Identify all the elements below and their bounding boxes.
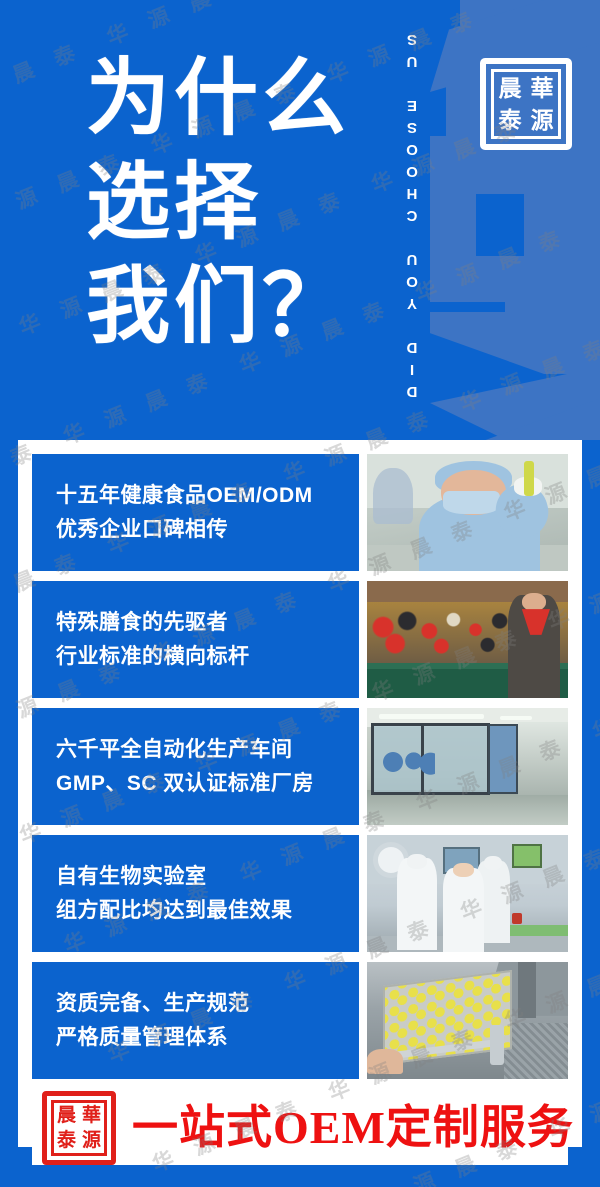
- feature-card-text: 六千平全自动化生产车间 GMP、SC 双认证标准厂房: [32, 708, 359, 825]
- feature-card-line2: 严格质量管理体系: [56, 1022, 359, 1053]
- poster-root: 为什么 选择 我们？ DID YOU CHOOSE US 晨 華 泰 源 十五年…: [0, 0, 600, 1187]
- feature-card: 资质完备、生产规范 严格质量管理体系: [32, 962, 568, 1079]
- company-seal-logo-red: 晨 華 泰 源: [42, 1091, 116, 1165]
- feature-card-line1: 资质完备、生产规范: [56, 988, 359, 1019]
- photo-art: [367, 962, 568, 1079]
- photo-art: [367, 581, 568, 698]
- why-letter-h-shape-3: [524, 194, 600, 256]
- feature-card: 六千平全自动化生产车间 GMP、SC 双认证标准厂房: [32, 708, 568, 825]
- feature-card: 十五年健康食品OEM/ODM 优秀企业口碑相传: [32, 454, 568, 571]
- feature-card-line2: GMP、SC 双认证标准厂房: [56, 768, 359, 799]
- conference-audience-photo: [367, 581, 568, 698]
- why-letter-y-shape-2: [430, 312, 600, 374]
- bottom-slogan-text: 一站式OEM定制服务: [132, 1105, 574, 1151]
- seal-char-2: 華: [526, 72, 558, 104]
- photo-art: [367, 708, 568, 825]
- cleanroom-corridor-photo: [367, 708, 568, 825]
- vertical-tagline: DID YOU CHOOSE US: [398, 18, 426, 408]
- blister-pack-tablets-photo: [367, 962, 568, 1079]
- seal-char-4: 源: [79, 1128, 104, 1153]
- feature-card-line1: 六千平全自动化生产车间: [56, 734, 359, 765]
- seal-white-grid: 晨 華 泰 源: [491, 69, 561, 139]
- lab-technician-photo: [367, 454, 568, 571]
- hero-section: 为什么 选择 我们？ DID YOU CHOOSE US 晨 華 泰 源: [0, 0, 600, 440]
- seal-char-3: 泰: [494, 104, 526, 136]
- feature-card-line1: 十五年健康食品OEM/ODM: [56, 480, 359, 511]
- bottom-slogan-bar: 晨 華 泰 源 一站式OEM定制服务: [32, 1091, 568, 1165]
- photo-art: [367, 835, 568, 952]
- why-letter-h-shape-2: [430, 194, 476, 256]
- company-seal-logo-white: 晨 華 泰 源: [480, 58, 572, 150]
- features-panel: 十五年健康食品OEM/ODM 优秀企业口碑相传 特殊膳食的先驱者 行业标准的横向…: [18, 440, 582, 1147]
- feature-card-text: 十五年健康食品OEM/ODM 优秀企业口碑相传: [32, 454, 359, 571]
- feature-card-line2: 组方配比均达到最佳效果: [56, 895, 359, 926]
- seal-char-1: 晨: [54, 1103, 79, 1128]
- feature-card: 特殊膳食的先驱者 行业标准的横向标杆: [32, 581, 568, 698]
- seal-char-2: 華: [79, 1103, 104, 1128]
- feature-card-line2: 优秀企业口碑相传: [56, 514, 359, 545]
- photo-art: [367, 454, 568, 571]
- seal-char-4: 源: [526, 104, 558, 136]
- feature-card-text: 特殊膳食的先驱者 行业标准的横向标杆: [32, 581, 359, 698]
- feature-card-line1: 自有生物实验室: [56, 861, 359, 892]
- seal-char-3: 泰: [54, 1128, 79, 1153]
- feature-card-line1: 特殊膳食的先驱者: [56, 607, 359, 638]
- feature-card-text: 资质完备、生产规范 严格质量管理体系: [32, 962, 359, 1079]
- seal-char-1: 晨: [494, 72, 526, 104]
- seal-red-grid: 晨 華 泰 源: [51, 1100, 107, 1156]
- feature-card: 自有生物实验室 组方配比均达到最佳效果: [32, 835, 568, 952]
- why-letter-h-shape-4: [430, 256, 600, 302]
- packaging-line-staff-photo: [367, 835, 568, 952]
- page-title: 为什么 选择 我们？: [86, 48, 350, 360]
- feature-card-line2: 行业标准的横向标杆: [56, 641, 359, 672]
- feature-card-text: 自有生物实验室 组方配比均达到最佳效果: [32, 835, 359, 952]
